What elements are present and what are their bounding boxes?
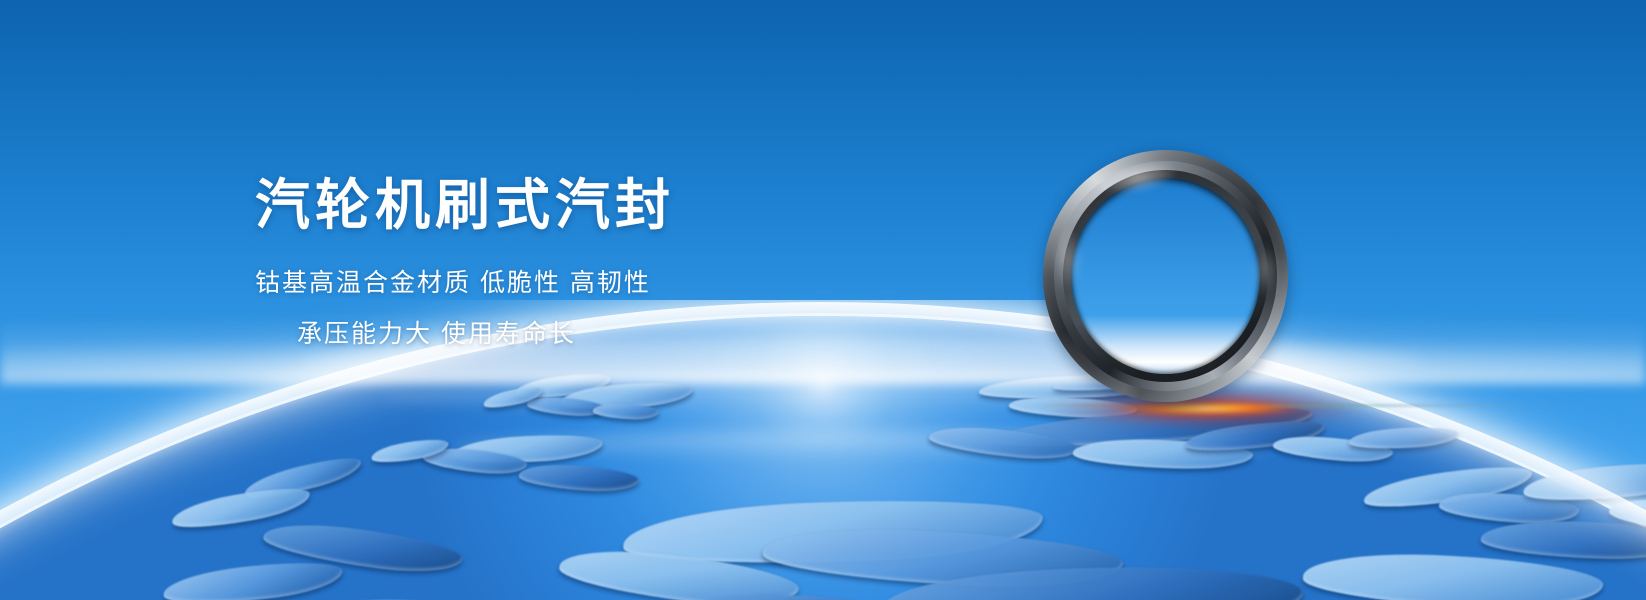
ring-bore [1071, 178, 1260, 374]
landmass [162, 557, 345, 600]
earth-globe [0, 300, 1646, 600]
banner-headline: 汽轮机刷式汽封 [255, 178, 675, 233]
landmass [518, 462, 639, 494]
landmass [1480, 518, 1646, 561]
landmass [1349, 425, 1460, 451]
landmass [1522, 458, 1646, 506]
banner-feature-line-2: 承压能力大 使用寿命长 [297, 322, 576, 347]
banner-feature-line-1: 钴基高温合金材质 低脆性 高韧性 [255, 271, 651, 296]
product-image-turbine-brush-seal-ring[interactable] [1043, 150, 1288, 402]
globe-sphere [0, 316, 1646, 600]
landmass [302, 593, 565, 600]
hero-banner: 汽轮机刷式汽封 钴基高温合金材质 低脆性 高韧性 承压能力大 使用寿命长 [0, 0, 1646, 600]
